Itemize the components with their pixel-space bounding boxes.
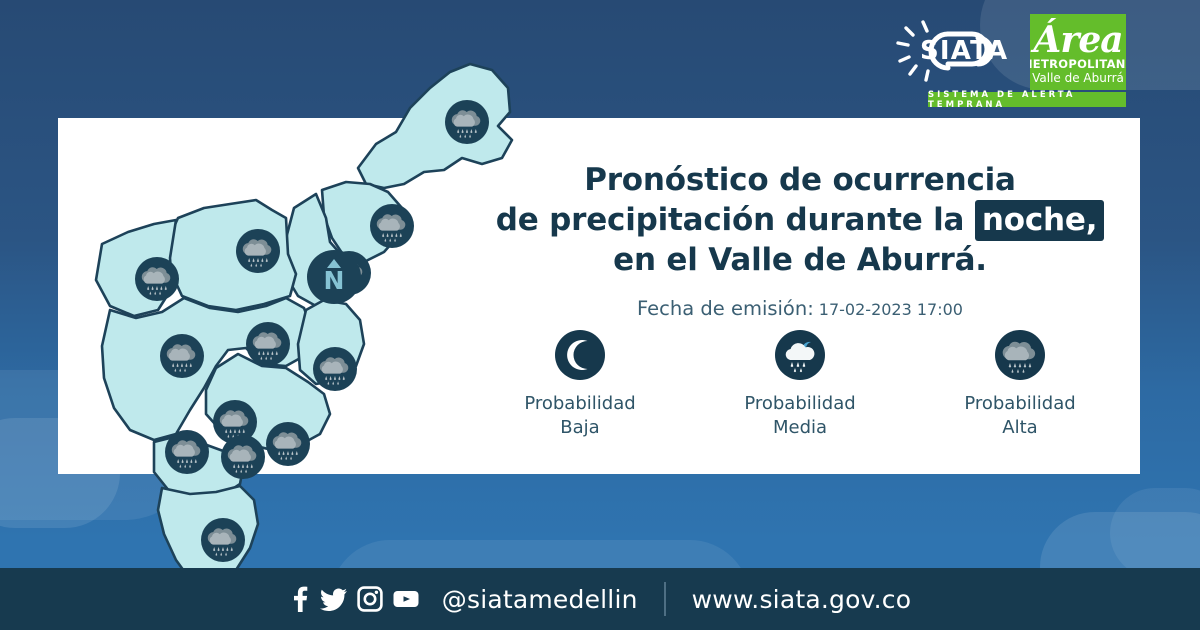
compass-arrow-icon xyxy=(327,259,341,268)
social-handle[interactable]: @siatamedellin xyxy=(442,585,638,614)
map-marker-sabaneta xyxy=(221,435,265,479)
map-marker-medellin-occidente xyxy=(160,334,204,378)
footer-divider xyxy=(664,582,666,616)
legend-label-media-2: Media xyxy=(705,416,895,440)
amva-line2: Valle de Aburrá xyxy=(1032,71,1124,85)
legend-item-alta: Probabilidad Alta xyxy=(925,330,1115,440)
legend-label-baja-1: Probabilidad xyxy=(485,392,675,416)
page-title: Pronóstico de ocurrencia de precipitació… xyxy=(470,160,1130,280)
legend-item-baja: Probabilidad Baja xyxy=(485,330,675,440)
issue-date-label: Fecha de emisión: xyxy=(637,297,814,320)
legend-label-alta-2: Alta xyxy=(925,416,1115,440)
social-icons xyxy=(289,586,420,612)
title-line-3: en el Valle de Aburrá. xyxy=(470,240,1130,280)
background-cloud-bottom-right-2 xyxy=(1110,488,1200,578)
moon-icon xyxy=(555,330,605,380)
legend-label-alta-1: Probabilidad xyxy=(925,392,1115,416)
cloud-rain-icon xyxy=(995,330,1045,380)
footer-bar: @siatamedellin www.siata.gov.co xyxy=(0,568,1200,630)
twitter-icon[interactable] xyxy=(320,586,348,612)
website-url[interactable]: www.siata.gov.co xyxy=(692,585,912,614)
issue-date-value: 17-02-2023 17:00 xyxy=(819,300,963,319)
amva-script-label: Área xyxy=(1030,18,1126,62)
logo-group: SIATA Área METROPOLITANA Valle de Aburrá xyxy=(890,14,1126,90)
siata-logo: SIATA xyxy=(890,14,1018,88)
map-marker-bello xyxy=(236,229,280,273)
legend-item-media: Probabilidad Media xyxy=(705,330,895,440)
map-marker-la-estrella xyxy=(165,430,209,474)
facebook-icon[interactable] xyxy=(289,586,311,612)
issue-date: Fecha de emisión:17-02-2023 17:00 xyxy=(470,297,1130,320)
siata-tagline-band: SISTEMA DE ALERTA TEMPRANA xyxy=(928,92,1126,107)
title-line-2-pre: de precipitación durante la xyxy=(496,202,975,238)
map-marker-san-pedro xyxy=(135,257,179,301)
headline-block: Pronóstico de ocurrencia de precipitació… xyxy=(470,160,1130,320)
compass-north-label: N xyxy=(324,268,345,293)
title-line-1: Pronóstico de ocurrencia xyxy=(470,160,1130,200)
infographic-canvas: SIATA Área METROPOLITANA Valle de Aburrá… xyxy=(0,0,1200,630)
instagram-icon[interactable] xyxy=(357,586,383,612)
siata-wordmark: SIATA xyxy=(920,36,1008,66)
map-marker-girardota xyxy=(370,204,414,248)
amva-logo: Área METROPOLITANA Valle de Aburrá xyxy=(1030,14,1126,90)
title-line-2: de precipitación durante la noche, xyxy=(470,200,1130,240)
title-highlight-noche: noche, xyxy=(975,200,1104,241)
map-marker-barbosa xyxy=(445,100,489,144)
probability-legend: Probabilidad Baja Probabi xyxy=(470,330,1130,440)
siata-tagline-text: SISTEMA DE ALERTA TEMPRANA xyxy=(928,90,1126,110)
map-marker-envigado xyxy=(266,422,310,466)
map-marker-medellin-norte xyxy=(246,322,290,366)
legend-label-baja-2: Baja xyxy=(485,416,675,440)
cloud-moon-rain-icon xyxy=(775,330,825,380)
map-marker-medellin-oriente xyxy=(313,347,357,391)
youtube-icon[interactable] xyxy=(392,586,420,612)
map-marker-caldas xyxy=(201,518,245,562)
compass-rose: N xyxy=(307,250,361,304)
legend-label-media-1: Probabilidad xyxy=(705,392,895,416)
